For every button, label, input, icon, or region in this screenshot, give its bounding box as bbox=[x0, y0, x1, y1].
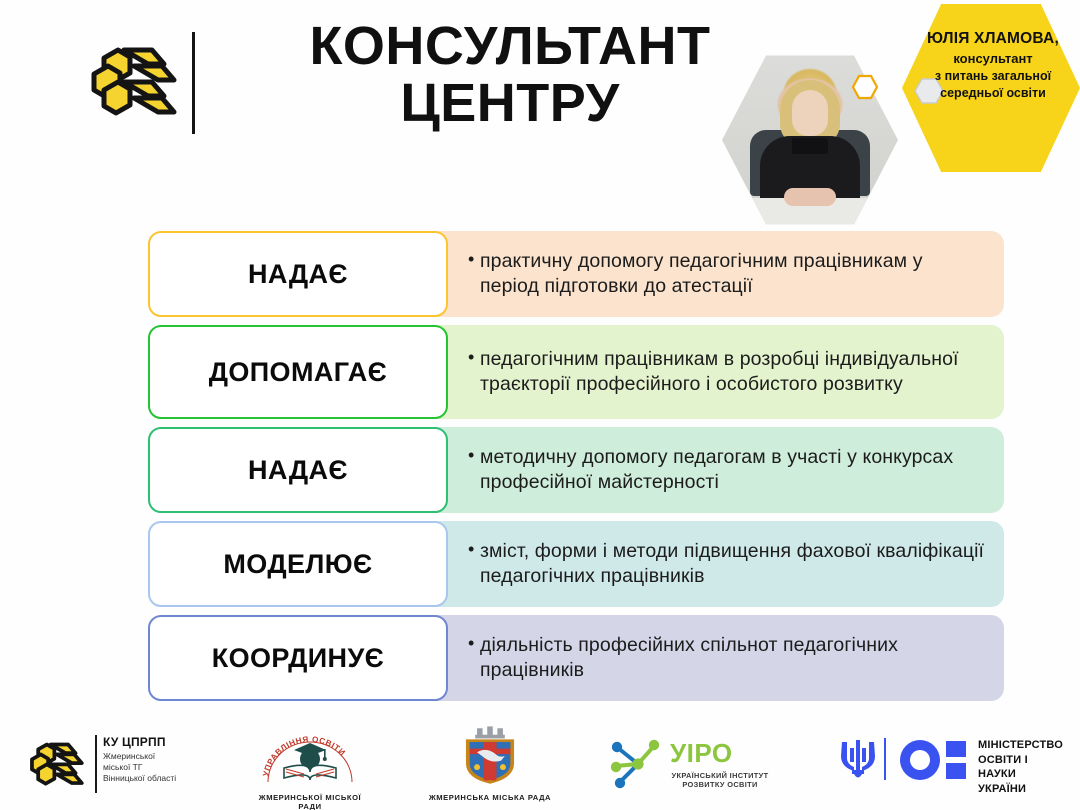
content-rows: НАДАЄ практичну допомогу педагогічним пр… bbox=[0, 225, 1080, 710]
footer-cprpp-title: КУ ЦПРПП bbox=[103, 735, 223, 749]
row-label-box[interactable]: КООРДИНУЄ bbox=[148, 615, 448, 701]
row-bullet: діяльність професійних спільнот педагогі… bbox=[480, 633, 986, 684]
footer-mon-line-3: УКРАЇНИ bbox=[978, 782, 1066, 797]
row-description-box: практичну допомогу педагогічним працівни… bbox=[434, 231, 1004, 317]
row-description-box: методичну допомогу педагогам в участі у … bbox=[434, 427, 1004, 513]
slide-header: КОНСУЛЬТАНТ ЦЕНТРУ bbox=[0, 0, 1080, 225]
page-title: КОНСУЛЬТАНТ ЦЕНТРУ bbox=[250, 18, 770, 131]
row-label-text: НАДАЄ bbox=[242, 455, 354, 486]
content-row: НАДАЄ методичну допомогу педагогам в уча… bbox=[148, 427, 1004, 513]
row-bullet: педагогічним працівникам в розробці інди… bbox=[480, 347, 986, 398]
row-label-text: ДОПОМАГАЄ bbox=[203, 357, 394, 388]
row-description-box: педагогічним працівникам в розробці інди… bbox=[434, 325, 1004, 419]
portrait-face bbox=[792, 90, 828, 136]
row-label-text: КООРДИНУЄ bbox=[206, 643, 391, 674]
cprpp-hex-logo-icon bbox=[78, 30, 184, 136]
footer-zmerynka-caption: ЖМЕРИНСЬКА МІСЬКА РАДА bbox=[420, 793, 560, 802]
portrait-collar bbox=[792, 138, 828, 154]
footer-cprpp-logo-icon bbox=[22, 732, 88, 798]
row-label-box[interactable]: ДОПОМАГАЄ bbox=[148, 325, 448, 419]
row-bullet: зміст, форми і методи підвищення фахової… bbox=[480, 539, 986, 590]
graduate-book-icon: УПРАВЛІННЯ ОСВІТИ bbox=[250, 728, 370, 786]
page-title-line-2: ЦЕНТРУ bbox=[250, 75, 770, 132]
content-row: МОДЕЛЮЄ зміст, форми і методи підвищення… bbox=[148, 521, 1004, 607]
row-label-box[interactable]: МОДЕЛЮЄ bbox=[148, 521, 448, 607]
avatar bbox=[722, 52, 898, 228]
footer-uiro-wordmark: УІРО bbox=[670, 738, 733, 769]
footer-uiro-sub-line-1: УКРАЇНСЬКИЙ ІНСТИТУТ bbox=[670, 771, 770, 780]
row-description-box: зміст, форми і методи підвищення фахової… bbox=[434, 521, 1004, 607]
content-row: КООРДИНУЄ діяльність професійних спільно… bbox=[148, 615, 1004, 701]
content-row: ДОПОМАГАЄ педагогічним працівникам в роз… bbox=[148, 325, 1004, 419]
footer-upravlinnya-caption: ЖМЕРИНСЬКОЇ МІСЬКОЇ РАДИ bbox=[250, 793, 370, 810]
row-description-box: діяльність професійних спільнот педагогі… bbox=[434, 615, 1004, 701]
header-divider bbox=[192, 32, 195, 134]
row-label-box[interactable]: НАДАЄ bbox=[148, 427, 448, 513]
uiro-network-icon bbox=[608, 738, 664, 790]
footer-zmerynka-logo: ЖМЕРИНСЬКА МІСЬКА РАДА bbox=[420, 726, 560, 802]
mon-mark-icon bbox=[892, 738, 982, 784]
person-badge: ЮЛІЯ ХЛАМОВА, консультант з питань загал… bbox=[902, 4, 1080, 172]
page-title-line-1: КОНСУЛЬТАНТ bbox=[250, 18, 770, 75]
footer-uiro-sub-line-2: РОЗВИТКУ ОСВІТИ bbox=[670, 780, 770, 789]
footer-cprpp-sub-line-2: міської ТГ bbox=[103, 762, 223, 773]
footer-cprpp-sub-line-3: Вінницької області bbox=[103, 773, 223, 784]
row-label-box[interactable]: НАДАЄ bbox=[148, 231, 448, 317]
person-badge-text: ЮЛІЯ ХЛАМОВА, консультант з питань загал… bbox=[914, 30, 1072, 101]
footer-mon-line-2: ОСВІТИ І НАУКИ bbox=[978, 753, 1066, 782]
footer-logo-bar: КУ ЦПРПП Жмеринської міської ТГ Вінницьк… bbox=[0, 718, 1080, 810]
footer-cprpp-subtitle: Жмеринської міської ТГ Вінницької област… bbox=[103, 751, 223, 785]
tryzub-icon bbox=[834, 736, 882, 782]
portrait-hands bbox=[784, 188, 836, 206]
person-name: ЮЛІЯ ХЛАМОВА, bbox=[914, 30, 1072, 49]
person-subject-line-1: з питань загальної bbox=[914, 68, 1072, 84]
slide-root: КОНСУЛЬТАНТ ЦЕНТРУ bbox=[0, 0, 1080, 810]
row-bullet: методичну допомогу педагогам в участі у … bbox=[480, 445, 986, 496]
footer-cprpp-divider bbox=[95, 735, 97, 793]
footer-mon-divider bbox=[884, 738, 886, 780]
row-label-text: МОДЕЛЮЄ bbox=[217, 549, 378, 580]
row-bullet: практичну допомогу педагогічним працівни… bbox=[480, 249, 986, 300]
content-row: НАДАЄ практичну допомогу педагогічним пр… bbox=[148, 231, 1004, 317]
footer-upravlinnya-logo: УПРАВЛІННЯ ОСВІТИ ЖМЕРИНСЬКОЇ МІСЬКОЇ РА… bbox=[250, 728, 370, 810]
person-subject-line-2: середньої освіти bbox=[914, 85, 1072, 101]
accent-hexagon-icon bbox=[852, 74, 878, 100]
footer-cprpp-sub-line-1: Жмеринської bbox=[103, 751, 223, 762]
footer-cprpp-text: КУ ЦПРПП Жмеринської міської ТГ Вінницьк… bbox=[103, 735, 223, 785]
coat-of-arms-icon bbox=[453, 726, 527, 786]
footer-mon-text: МІНІСТЕРСТВО ОСВІТИ І НАУКИ УКРАЇНИ bbox=[978, 738, 1066, 797]
footer-mon-line-1: МІНІСТЕРСТВО bbox=[978, 738, 1066, 753]
row-label-text: НАДАЄ bbox=[242, 259, 354, 290]
person-role: консультант bbox=[914, 51, 1072, 67]
